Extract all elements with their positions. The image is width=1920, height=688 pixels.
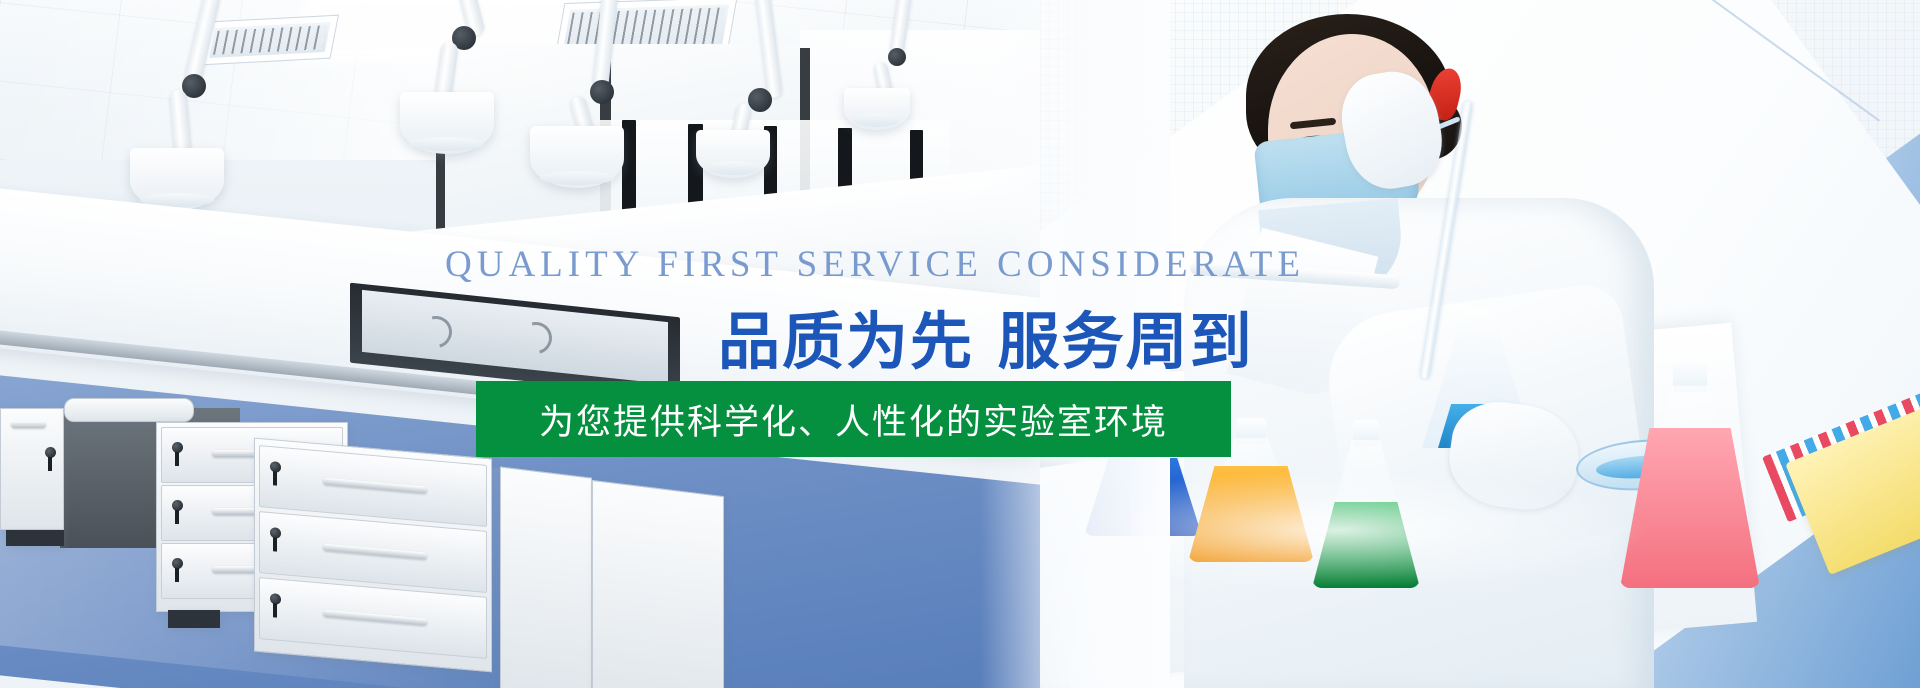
tagline-english: QUALITY FIRST SERVICE CONSIDERATE bbox=[445, 243, 1305, 286]
hero-banner: QUALITY FIRST SERVICE CONSIDERATE 品质为先 服… bbox=[0, 0, 1920, 688]
subtitle-green-banner: 为您提供科学化、人性化的实验室环境 bbox=[476, 381, 1231, 457]
subtitle-chinese: 为您提供科学化、人性化的实验室环境 bbox=[539, 394, 1168, 445]
text-overlay: QUALITY FIRST SERVICE CONSIDERATE 品质为先 服… bbox=[0, 0, 1920, 688]
headline-chinese: 品质为先 服务周到 bbox=[718, 291, 1254, 381]
